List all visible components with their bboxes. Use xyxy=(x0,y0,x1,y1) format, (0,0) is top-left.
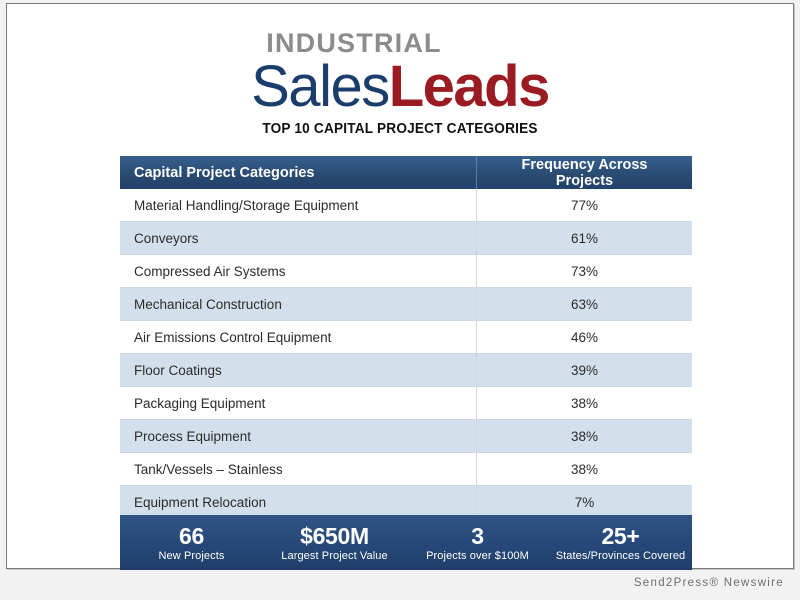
table-row: Conveyors61% xyxy=(120,222,692,255)
table-row: Compressed Air Systems73% xyxy=(120,255,692,288)
table-row: Floor Coatings39% xyxy=(120,354,692,387)
cell-frequency: 38% xyxy=(477,420,693,453)
cell-category: Air Emissions Control Equipment xyxy=(120,321,477,354)
cell-category: Process Equipment xyxy=(120,420,477,453)
stat-item: $650MLargest Project Value xyxy=(263,524,406,563)
cell-frequency: 39% xyxy=(477,354,693,387)
stat-label: Largest Project Value xyxy=(263,551,406,563)
stat-value: 3 xyxy=(406,524,549,548)
infographic-canvas: INDUSTRIAL SalesLeads TOP 10 CAPITAL PRO… xyxy=(6,3,794,569)
logo-word-leads: Leads xyxy=(389,54,549,119)
stat-label: Projects over $100M xyxy=(406,551,549,563)
footer-strip: Send2Press® Newswire xyxy=(0,570,800,600)
cell-frequency: 73% xyxy=(477,255,693,288)
stat-label: New Projects xyxy=(120,551,263,563)
table-header-row: Capital Project Categories Frequency Acr… xyxy=(120,156,692,189)
table-row: Process Equipment38% xyxy=(120,420,692,453)
stat-value: 66 xyxy=(120,524,263,548)
capital-project-categories-table: Capital Project Categories Frequency Acr… xyxy=(120,156,692,519)
cell-category: Packaging Equipment xyxy=(120,387,477,420)
cell-frequency: 63% xyxy=(477,288,693,321)
cell-frequency: 61% xyxy=(477,222,693,255)
cell-frequency: 7% xyxy=(477,486,693,519)
cell-category: Equipment Relocation xyxy=(120,486,477,519)
page-title: TOP 10 CAPITAL PROJECT CATEGORIES xyxy=(31,122,770,137)
column-header-frequency: Frequency Across Projects xyxy=(477,156,693,189)
cell-category: Compressed Air Systems xyxy=(120,255,477,288)
cell-category: Material Handling/Storage Equipment xyxy=(120,189,477,222)
logo-eyebrow-text: INDUSTRIAL xyxy=(0,30,793,57)
stat-label: States/Provinces Covered xyxy=(549,551,692,563)
table-row: Packaging Equipment38% xyxy=(120,387,692,420)
stat-item: 66New Projects xyxy=(120,524,263,563)
stat-item: 25+States/Provinces Covered xyxy=(549,524,692,563)
table-head: Capital Project Categories Frequency Acr… xyxy=(120,156,692,189)
table-row: Material Handling/Storage Equipment77% xyxy=(120,189,692,222)
cell-frequency: 77% xyxy=(477,189,693,222)
cell-category: Tank/Vessels – Stainless xyxy=(120,453,477,486)
cell-category: Conveyors xyxy=(120,222,477,255)
stat-item: 3Projects over $100M xyxy=(406,524,549,563)
cell-category: Mechanical Construction xyxy=(120,288,477,321)
cell-frequency: 46% xyxy=(477,321,693,354)
table-row: Tank/Vessels – Stainless38% xyxy=(120,453,692,486)
logo-word-sales: Sales xyxy=(251,54,389,119)
column-header-category: Capital Project Categories xyxy=(120,156,477,189)
logo-wordmark: SalesLeads xyxy=(7,58,793,116)
table-body: Material Handling/Storage Equipment77%Co… xyxy=(120,189,692,519)
cell-category: Floor Coatings xyxy=(120,354,477,387)
table-row: Equipment Relocation7% xyxy=(120,486,692,519)
cell-frequency: 38% xyxy=(477,453,693,486)
table-row: Mechanical Construction63% xyxy=(120,288,692,321)
newswire-credit: Send2Press® Newswire xyxy=(634,577,784,589)
brand-logo: INDUSTRIAL SalesLeads TOP 10 CAPITAL PRO… xyxy=(7,30,793,137)
cell-frequency: 38% xyxy=(477,387,693,420)
stat-value: $650M xyxy=(263,524,406,548)
table-row: Air Emissions Control Equipment46% xyxy=(120,321,692,354)
stat-value: 25+ xyxy=(549,524,692,548)
summary-stats-bar: 66New Projects$650MLargest Project Value… xyxy=(120,515,692,572)
